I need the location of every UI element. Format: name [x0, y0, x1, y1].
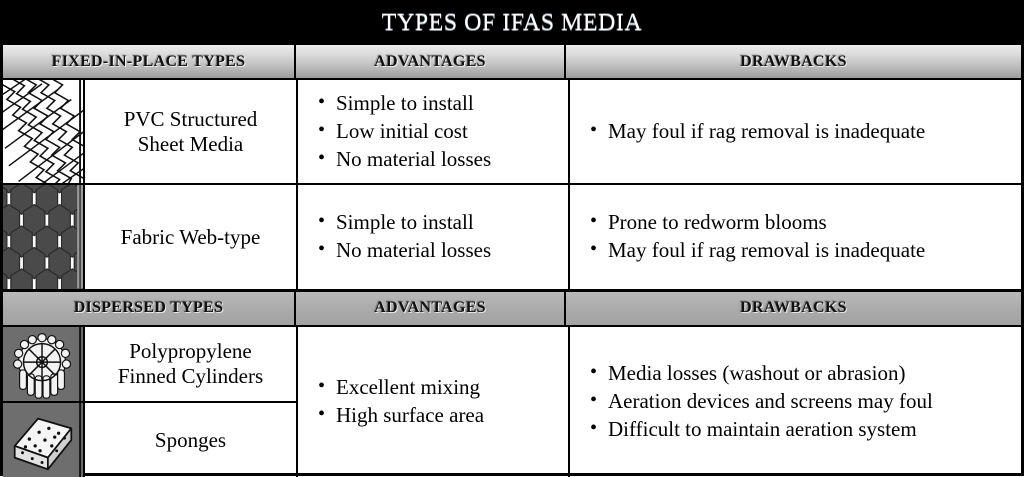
list-item: Media losses (washout or abrasion)	[590, 360, 1021, 388]
header-row-fixed-in-place: FIXED-IN-PLACE TYPES ADVANTAGES DRAWBACK…	[3, 43, 1021, 78]
list-item: No material losses	[318, 146, 568, 174]
table-title-bar: TYPES OF IFAS MEDIA	[3, 3, 1021, 43]
column-header-advantages-1: ADVANTAGES	[294, 45, 564, 78]
type-label-polypropylene-line1: Polypropylene	[129, 339, 251, 363]
list-item: High surface area	[318, 402, 568, 430]
drawbacks-list-fabric: Prone to redworm blooms May foul if rag …	[590, 209, 1021, 264]
table-row-fabric-web-type: Fabric Web-type Simple to install No mat…	[3, 183, 1021, 288]
type-label-pvc-line1: PVC Structured	[124, 107, 258, 131]
sponge-block-icon	[3, 403, 85, 477]
table-row-pvc-structured-sheet-media: PVC Structured Sheet Media Simple to ins…	[3, 78, 1021, 183]
type-label-sponges-line1: Sponges	[155, 428, 226, 453]
type-subrow-polypropylene: Polypropylene Finned Cylinders	[3, 327, 296, 401]
type-cell-pvc: PVC Structured Sheet Media	[3, 80, 296, 183]
list-item: Low initial cost	[318, 118, 568, 146]
list-item: Aeration devices and screens may foul	[590, 388, 1021, 416]
type-cell-fabric: Fabric Web-type	[3, 185, 296, 288]
drawbacks-cell-dispersed: Media losses (washout or abrasion) Aerat…	[568, 327, 1021, 477]
finned-cylinder-gear-icon	[3, 327, 85, 401]
type-label-pvc: PVC Structured Sheet Media	[85, 80, 296, 183]
type-label-polypropylene: Polypropylene Finned Cylinders	[85, 327, 296, 401]
list-item: Prone to redworm blooms	[590, 209, 1021, 237]
advantages-list-pvc: Simple to install Low initial cost No ma…	[318, 90, 568, 173]
type-subrow-sponges: Sponges	[3, 401, 296, 477]
column-header-drawbacks-1: DRAWBACKS	[564, 45, 1021, 78]
column-header-dispersed-types: DISPERSED TYPES	[3, 292, 294, 325]
type-label-fabric: Fabric Web-type	[85, 185, 296, 288]
drawbacks-cell-pvc: May foul if rag removal is inadequate	[568, 80, 1021, 183]
drawbacks-list-dispersed: Media losses (washout or abrasion) Aerat…	[590, 360, 1021, 443]
page-title: TYPES OF IFAS MEDIA	[382, 10, 642, 37]
list-item: Simple to install	[318, 209, 568, 237]
advantages-cell-dispersed: Excellent mixing High surface area	[296, 327, 568, 477]
type-label-fabric-line1: Fabric Web-type	[121, 225, 261, 250]
advantages-list-dispersed: Excellent mixing High surface area	[318, 374, 568, 429]
list-item: Simple to install	[318, 90, 568, 118]
advantages-cell-fabric: Simple to install No material losses	[296, 185, 568, 288]
advantages-list-fabric: Simple to install No material losses	[318, 209, 568, 264]
type-label-pvc-line2: Sheet Media	[138, 132, 244, 156]
drawbacks-cell-fabric: Prone to redworm blooms May foul if rag …	[568, 185, 1021, 288]
ifas-media-table: TYPES OF IFAS MEDIA FIXED-IN-PLACE TYPES…	[0, 0, 1024, 476]
type-label-polypropylene-line2: Finned Cylinders	[118, 364, 263, 388]
table-row-dispersed-types: Polypropylene Finned Cylinders	[3, 327, 1021, 477]
column-header-fixed-in-place-types: FIXED-IN-PLACE TYPES	[3, 45, 294, 78]
advantages-cell-pvc: Simple to install Low initial cost No ma…	[296, 80, 568, 183]
list-item: Difficult to maintain aeration system	[590, 416, 1021, 444]
header-row-dispersed: DISPERSED TYPES ADVANTAGES DRAWBACKS	[3, 289, 1021, 327]
list-item: Excellent mixing	[318, 374, 568, 402]
drawbacks-list-pvc: May foul if rag removal is inadequate	[590, 118, 1021, 146]
hexagonal-fabric-web-icon	[3, 185, 85, 288]
list-item: No material losses	[318, 237, 568, 265]
type-label-sponges: Sponges	[85, 403, 296, 477]
list-item: May foul if rag removal is inadequate	[590, 118, 1021, 146]
column-header-drawbacks-2: DRAWBACKS	[564, 292, 1021, 325]
column-header-advantages-2: ADVANTAGES	[294, 292, 564, 325]
type-cell-dispersed-stack: Polypropylene Finned Cylinders	[3, 327, 296, 477]
corrugated-sheet-media-icon	[3, 80, 85, 183]
list-item: May foul if rag removal is inadequate	[590, 237, 1021, 265]
